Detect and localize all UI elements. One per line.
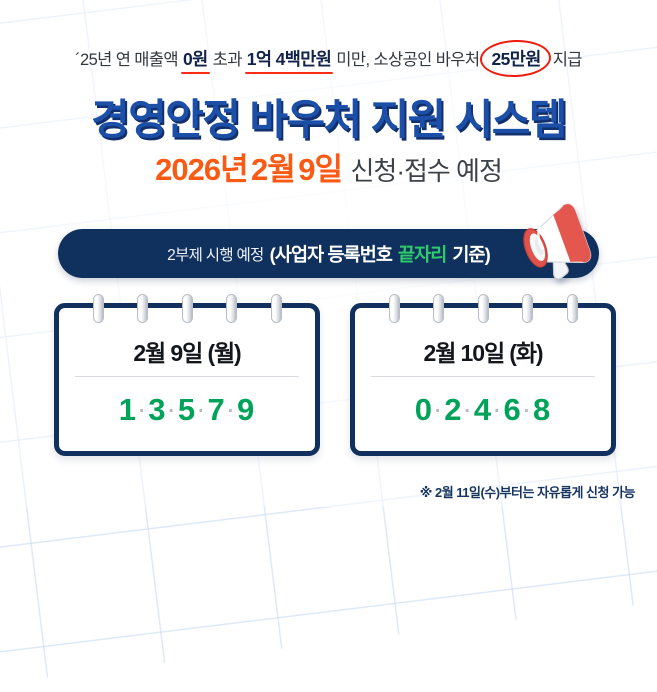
ring-icon [433, 294, 444, 323]
card-divider [371, 376, 595, 377]
digit-separator: · [524, 401, 531, 422]
ring-icon [567, 294, 578, 323]
card-digit: 7 [207, 392, 225, 427]
card-divider [75, 376, 299, 377]
eyebrow-voucher-amount: 25만원 [484, 46, 547, 71]
eyebrow-amount-max: 1억 4백만원 [246, 49, 333, 69]
card-date-label: 2월 10일 (화) [355, 334, 611, 368]
card-digit: 2 [444, 392, 462, 427]
digit-separator: · [494, 401, 501, 422]
ring-icon [93, 294, 104, 323]
banner-highlight: 끝자리 [398, 241, 446, 267]
eyebrow-part2: 초과 [213, 51, 242, 69]
date-year: 2026년 [155, 152, 247, 187]
card-digit: 0 [415, 392, 433, 427]
footnote-note: ※ 2월 11일(수)부터는 자유롭게 신청 가능 [420, 482, 635, 501]
eyebrow-part1: ´25년 연 매출액 [75, 51, 178, 69]
card-digit: 5 [178, 392, 196, 427]
date-suffix: 신청·접수 예정 [350, 156, 501, 186]
card-digit: 6 [503, 392, 521, 427]
schedule-card-day1: 2월 9일 (월) 1·3·5·7·9 [54, 303, 320, 456]
poster-canvas: ´25년 연 매출액 0원 초과 1억 4백만원 미만, 소상공인 바우처 25… [0, 0, 657, 507]
schedule-card-day2: 2월 10일 (화) 0·2·4·6·8 [350, 303, 616, 456]
card-digit-list: 0·2·4·6·8 [355, 392, 611, 428]
date-day: 9일 [298, 152, 342, 187]
card-digit-list: 1·3·5·7·9 [59, 392, 315, 428]
binder-rings [355, 294, 611, 324]
megaphone-icon [512, 196, 608, 282]
ring-icon [271, 294, 282, 323]
banner-bold-close: 기준) [452, 241, 490, 267]
date-month: 2월 [251, 152, 295, 187]
ring-icon [137, 294, 148, 323]
eyebrow-part3: 미만, 소상공인 바우처 [336, 51, 479, 69]
card-digit: 4 [474, 392, 492, 427]
eyebrow-part4: 지급 [553, 51, 582, 69]
ring-icon [226, 294, 237, 323]
announcement-date-line: 2026년 2월 9일 신청·접수 예정 [0, 144, 657, 189]
card-digit: 9 [237, 392, 255, 427]
banner-light-text: 2부제 시행 예정 [167, 243, 264, 265]
card-date-label: 2월 9일 (월) [59, 334, 315, 368]
ring-icon [478, 294, 489, 323]
digit-separator: · [465, 401, 472, 422]
binder-rings [59, 294, 315, 324]
page-title: 경영안정 바우처 지원 시스템 [0, 86, 657, 147]
digit-separator: · [198, 401, 205, 422]
digit-separator: · [228, 401, 235, 422]
digit-separator: · [435, 401, 442, 422]
ring-icon [182, 294, 193, 323]
ring-icon [389, 294, 400, 323]
card-digit: 8 [533, 392, 551, 427]
ring-icon [522, 294, 533, 323]
eyebrow-amount-min: 0원 [182, 49, 209, 69]
digit-separator: · [139, 401, 146, 422]
card-digit: 3 [148, 392, 166, 427]
eyebrow-line: ´25년 연 매출액 0원 초과 1억 4백만원 미만, 소상공인 바우처 25… [0, 46, 657, 71]
banner-bold-open: (사업자 등록번호 [270, 241, 392, 267]
card-digit: 1 [119, 392, 137, 427]
digit-separator: · [169, 401, 176, 422]
